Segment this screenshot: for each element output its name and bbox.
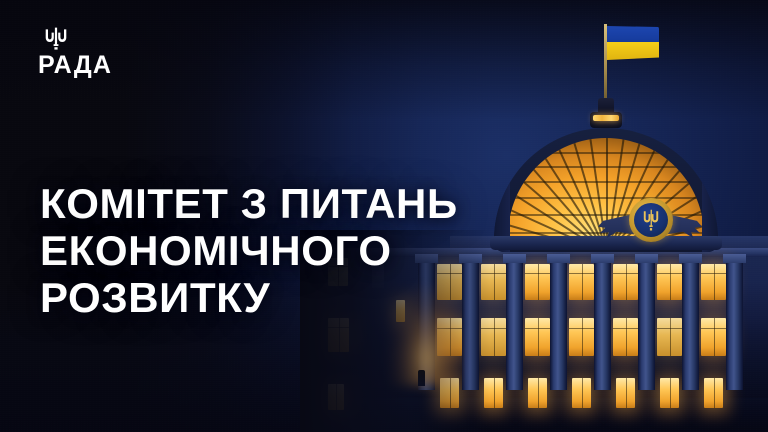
- facade-column: [726, 262, 743, 390]
- facade-window: [616, 378, 635, 408]
- window-mullion: [494, 318, 495, 356]
- window-mullion: [582, 378, 583, 408]
- facade-window: [569, 318, 594, 356]
- window-transom: [569, 328, 594, 329]
- window-transom: [701, 328, 726, 329]
- dome-lantern-lights: [593, 115, 619, 121]
- title-line-2: ЕКОНОМІЧНОГО: [40, 227, 560, 274]
- flag-blue-band: [607, 26, 659, 43]
- window-transom: [569, 273, 594, 274]
- window-mullion: [714, 318, 715, 356]
- window-mullion: [670, 378, 671, 408]
- facade-window: [657, 264, 682, 300]
- window-mullion: [582, 318, 583, 356]
- facade-window: [528, 378, 547, 408]
- window-mullion: [670, 264, 671, 300]
- window-mullion: [626, 264, 627, 300]
- dome-lantern-neck: [598, 98, 614, 112]
- facade-column: [594, 262, 611, 390]
- window-mullion: [626, 378, 627, 408]
- facade-window: [572, 378, 591, 408]
- facade-window: [569, 264, 594, 300]
- trident-emblem-icon: [643, 209, 659, 231]
- window-mullion: [538, 378, 539, 408]
- trident-icon: [44, 26, 68, 50]
- facade-window: [704, 378, 723, 408]
- facade-window: [613, 318, 638, 356]
- window-transom: [657, 273, 682, 274]
- dome-ring: [523, 152, 690, 154]
- window-mullion: [714, 264, 715, 300]
- window-mullion: [714, 378, 715, 408]
- window-mullion: [670, 318, 671, 356]
- window-transom: [657, 328, 682, 329]
- facade-column: [682, 262, 699, 390]
- facade-window: [657, 318, 682, 356]
- facade-window: [701, 264, 726, 300]
- window-mullion: [538, 318, 539, 356]
- rada-wordmark: РАДА: [38, 53, 112, 78]
- window-transom: [613, 273, 638, 274]
- title-line-3: РОЗВИТКУ: [40, 274, 560, 321]
- facade-column: [638, 262, 655, 390]
- flag-yellow-band: [607, 42, 659, 60]
- window-transom: [613, 328, 638, 329]
- ukrainian-flag-icon: [607, 26, 659, 60]
- facade-window: [613, 264, 638, 300]
- promo-banner: РАДА КОМІТЕТ З ПИТАНЬ ЕКОНОМІЧНОГО РОЗВИ…: [0, 0, 768, 432]
- trident-medallion: [598, 190, 702, 266]
- window-mullion: [494, 378, 495, 408]
- facade-window: [701, 318, 726, 356]
- dome-ring: [519, 166, 693, 168]
- window-mullion: [582, 264, 583, 300]
- window-transom: [525, 328, 550, 329]
- top-vignette: [0, 0, 768, 120]
- facade-window: [660, 378, 679, 408]
- rada-logo[interactable]: РАДА: [38, 26, 112, 78]
- facade-window: [525, 318, 550, 356]
- title-line-1: КОМІТЕТ З ПИТАНЬ: [40, 180, 560, 227]
- window-transom: [701, 273, 726, 274]
- window-mullion: [626, 318, 627, 356]
- page-title: КОМІТЕТ З ПИТАНЬ ЕКОНОМІЧНОГО РОЗВИТКУ: [40, 180, 560, 321]
